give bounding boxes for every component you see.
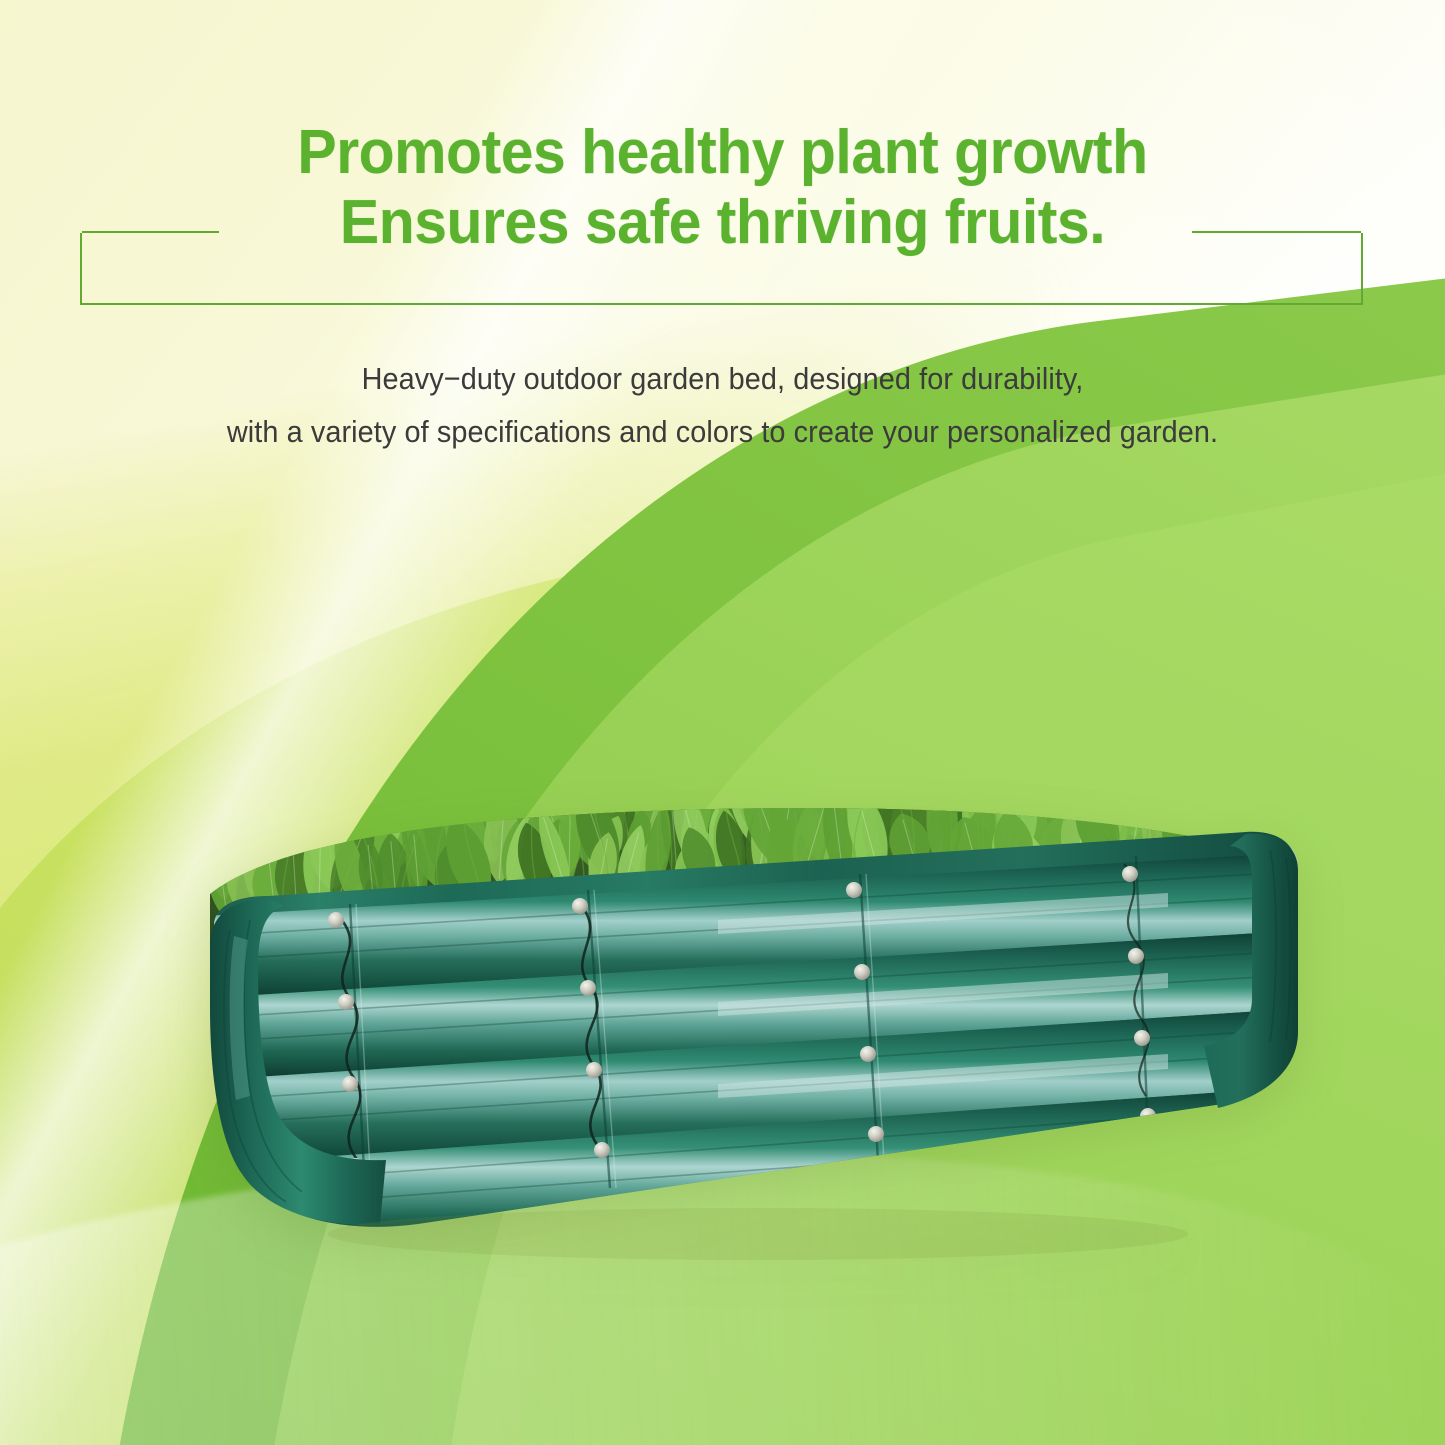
subcopy-text: Heavy−duty outdoor garden bed, designed … (51, 352, 1395, 459)
banner-canvas: Promotes healthy plant growth Ensures sa… (0, 0, 1445, 1445)
product-image-garden-bed (118, 668, 1318, 1288)
headline-text: Promotes healthy plant growth Ensures sa… (36, 118, 1409, 258)
ground-shadow (328, 1208, 1188, 1260)
